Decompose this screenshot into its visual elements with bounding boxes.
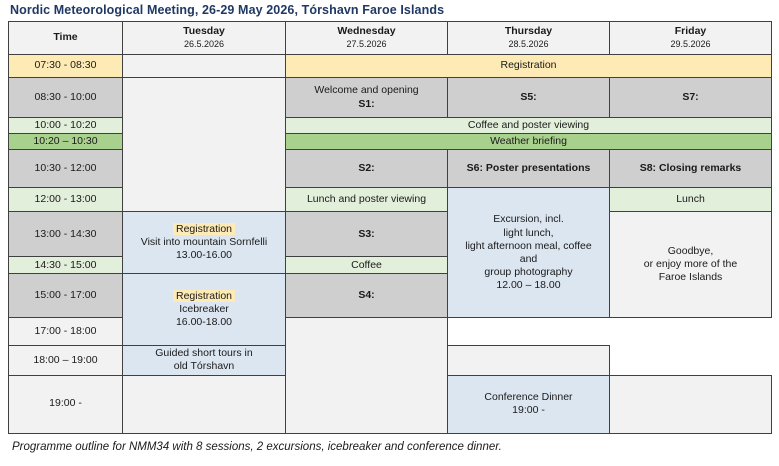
wednesday-empty-cell (286, 318, 448, 433)
friday-goodbye-cell: Goodbye, or enjoy more of the Faroe Isla… (610, 212, 772, 318)
wednesday-s2-cell: S2: (286, 150, 448, 188)
time-cell: 13:00 - 14:30 (9, 212, 123, 257)
programme-table: Time Tuesday 26.5.2026 Wednesday 27.5.20… (8, 21, 772, 434)
thursday-excursion-cell: Excursion, incl. light lunch, light afte… (448, 188, 610, 318)
tuesday-tours-cell: Guided short tours in old Tórshavn (123, 346, 286, 375)
header-date: 27.5.2026 (288, 39, 445, 50)
icebreaker-line: Icebreaker (128, 303, 280, 316)
friday-empty-cell (610, 375, 772, 433)
dinner-line: Conference Dinner (450, 391, 607, 404)
dinner-time: 19:00 - (450, 404, 607, 417)
time-cell: 19:00 - (9, 375, 123, 433)
session-line: Welcome and opening (288, 84, 445, 97)
wednesday-lunch-cell: Lunch and poster viewing (286, 188, 448, 212)
friday-empty-cell (448, 346, 610, 375)
tuesday-excursion-cell: Registration Visit into mountain Sornfel… (123, 212, 286, 274)
table-row: 08:30 - 10:00 Welcome and opening S1: S5… (9, 78, 772, 118)
header-label: Wednesday (288, 25, 445, 38)
time-cell: 17:00 - 18:00 (9, 318, 123, 346)
tuesday-empty-cell (123, 55, 286, 78)
column-header-wednesday: Wednesday 27.5.2026 (286, 22, 448, 55)
friday-s7-cell: S7: (610, 78, 772, 118)
tuesday-empty-cell (123, 375, 286, 433)
thursday-dinner-cell: Conference Dinner 19:00 - (448, 375, 610, 433)
header-date: 28.5.2026 (450, 39, 607, 50)
column-header-time: Time (9, 22, 123, 55)
column-header-friday: Friday 29.5.2026 (610, 22, 772, 55)
header-label: Time (11, 31, 120, 44)
excursion-line: light lunch, (453, 227, 604, 240)
time-cell: 15:00 - 17:00 (9, 274, 123, 318)
table-header-row: Time Tuesday 26.5.2026 Wednesday 27.5.20… (9, 22, 772, 55)
registration-badge: Registration (173, 223, 235, 235)
schedule-page: Nordic Meteorological Meeting, 26-29 May… (0, 0, 779, 466)
table-row: 13:00 - 14:30 Registration Visit into mo… (9, 212, 772, 257)
header-label: Tuesday (125, 25, 283, 38)
weather-briefing-cell: Weather briefing (286, 134, 772, 150)
wednesday-s3-cell: S3: (286, 212, 448, 257)
goodbye-line: Goodbye, (615, 245, 766, 258)
excursion-line: group photography (453, 266, 604, 279)
friday-lunch-cell: Lunch (610, 188, 772, 212)
time-cell: 14:30 - 15:00 (9, 257, 123, 274)
tours-line: Guided short tours in (125, 347, 283, 360)
goodbye-line: or enjoy more of the (615, 258, 766, 271)
column-header-tuesday: Tuesday 26.5.2026 (123, 22, 286, 55)
icebreaker-time: 16.00-18.00 (128, 316, 280, 329)
friday-s8-cell: S8: Closing remarks (610, 150, 772, 188)
thursday-s5-cell: S5: (448, 78, 610, 118)
tuesday-empty-cell (123, 78, 286, 212)
column-header-thursday: Thursday 28.5.2026 (448, 22, 610, 55)
figure-caption: Programme outline for NMM34 with 8 sessi… (8, 434, 771, 453)
wednesday-s4-cell: S4: (286, 274, 448, 318)
registration-cell: Registration (286, 55, 772, 78)
coffee-poster-cell: Coffee and poster viewing (286, 118, 772, 134)
registration-badge: Registration (173, 290, 235, 302)
time-cell: 10:00 - 10:20 (9, 118, 123, 134)
tours-line: old Tórshavn (125, 360, 283, 373)
time-cell: 07:30 - 08:30 (9, 55, 123, 78)
excursion-line: and (453, 253, 604, 266)
thursday-s6-cell: S6: Poster presentations (448, 150, 610, 188)
wednesday-coffee-cell: Coffee (286, 257, 448, 274)
excursion-line: Visit into mountain Sornfelli (128, 236, 280, 249)
excursion-time: 13.00-16.00 (128, 249, 280, 262)
excursion-line: light afternoon meal, coffee (453, 240, 604, 253)
wednesday-s1-cell: Welcome and opening S1: (286, 78, 448, 118)
header-label: Friday (612, 25, 769, 38)
excursion-line: Excursion, incl. (453, 213, 604, 226)
goodbye-line: Faroe Islands (615, 271, 766, 284)
time-cell: 08:30 - 10:00 (9, 78, 123, 118)
session-code: S1: (288, 98, 445, 111)
excursion-time: 12.00 – 18.00 (453, 279, 604, 292)
table-row: 07:30 - 08:30 Registration (9, 55, 772, 78)
registration-highlight-line: Registration (128, 290, 280, 303)
header-label: Thursday (450, 25, 607, 38)
time-cell: 18:00 – 19:00 (9, 346, 123, 375)
header-date: 29.5.2026 (612, 39, 769, 50)
tuesday-icebreaker-cell: Registration Icebreaker 16.00-18.00 (123, 274, 286, 346)
registration-highlight-line: Registration (128, 223, 280, 236)
time-cell: 10:20 – 10:30 (9, 134, 123, 150)
time-cell: 10:30 - 12:00 (9, 150, 123, 188)
header-date: 26.5.2026 (125, 39, 283, 50)
time-cell: 12:00 - 13:00 (9, 188, 123, 212)
page-title: Nordic Meteorological Meeting, 26-29 May… (8, 0, 771, 21)
